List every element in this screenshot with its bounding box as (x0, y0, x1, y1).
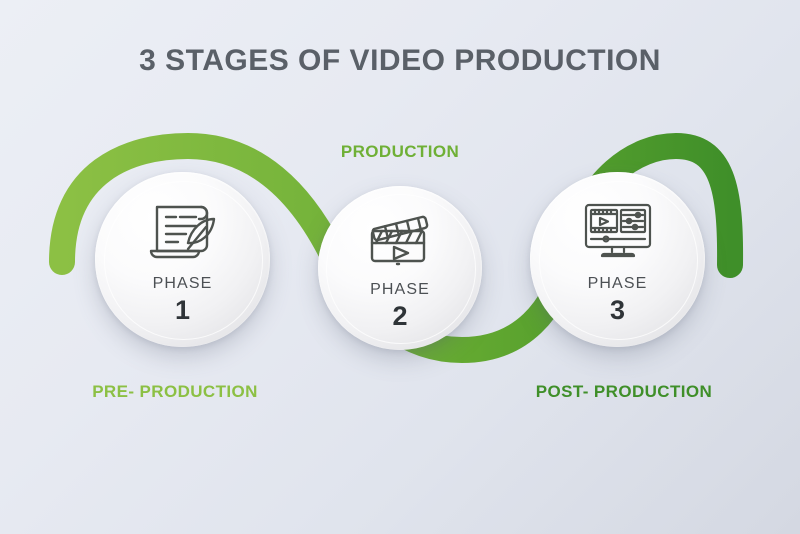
phase-number-1: 1 (175, 295, 190, 326)
clapperboard-play-icon (362, 209, 438, 269)
stage-label-production: PRODUCTION (318, 142, 482, 162)
phase-word-3: PHASE (588, 275, 648, 293)
phase-circle-1[interactable]: PHASE 1 (95, 172, 270, 347)
phase-circle-3[interactable]: PHASE 3 (530, 172, 705, 347)
phase-word-2: PHASE (370, 281, 430, 299)
phase-number-2: 2 (392, 301, 407, 332)
infographic-canvas: 3 STAGES OF VIDEO PRODUCTION PRODUCTION (0, 0, 800, 534)
stage-label-post-production: POST- PRODUCTION (524, 382, 724, 402)
monitor-video-editor-icon (578, 199, 658, 261)
phase-number-3: 3 (610, 295, 625, 326)
phase-circle-2[interactable]: PHASE 2 (318, 186, 482, 350)
phase-word-1: PHASE (153, 275, 213, 293)
stage-label-pre-production: PRE- PRODUCTION (80, 382, 270, 402)
scroll-quill-icon (144, 199, 222, 261)
